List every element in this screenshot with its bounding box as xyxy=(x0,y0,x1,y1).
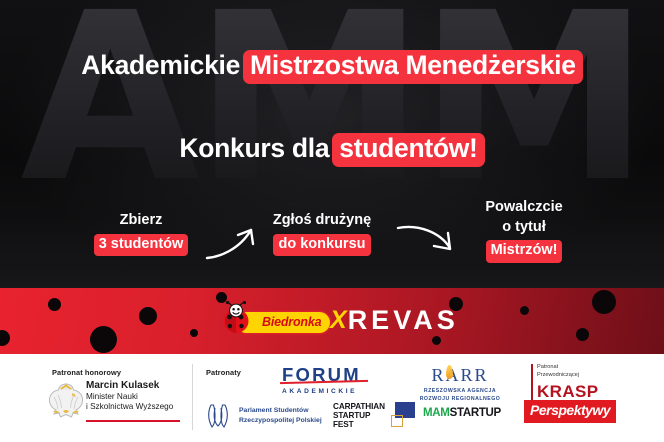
mamstartup-logo: MAMSTARTUP xyxy=(423,407,501,419)
rarr-flame-icon xyxy=(446,365,453,379)
step-3-win: Powalczcie o tytuł Mistrzów! xyxy=(448,198,600,263)
step-1-collect: Zbierz 3 studentów xyxy=(76,211,206,256)
step-3-label-a: Powalczcie xyxy=(448,198,600,218)
ladybug-icon xyxy=(222,301,252,335)
band-dot xyxy=(592,290,616,314)
parlament-studentow-logo: Parlament Studentów Rzeczypospolitej Pol… xyxy=(204,402,322,430)
perspektywy-logo: Perspektywy xyxy=(524,400,616,423)
krasp-logo: Patronat Przewodniczącej KRASP xyxy=(537,363,599,402)
band-dot xyxy=(0,330,10,346)
minister-name: Marcin Kulasek xyxy=(86,380,173,392)
band-dot xyxy=(90,326,117,353)
revas-wordmark: REVAS xyxy=(348,305,459,336)
step-2-label: Zgłoś drużynę xyxy=(252,211,392,231)
band-dot xyxy=(520,306,529,315)
band-dot xyxy=(190,329,198,337)
band-dot xyxy=(576,328,589,341)
subheadline-highlight-text: studentów! xyxy=(332,133,484,167)
step-2-register: Zgłoś drużynę do konkursu xyxy=(252,211,392,256)
parlament-line-1: Parlament Studentów xyxy=(239,406,322,416)
perspektywy-wordmark: Perspektywy xyxy=(530,402,610,418)
minister-title-line-2: i Szkolnictwa Wyższego xyxy=(86,402,173,412)
sponsors-divider xyxy=(192,364,193,430)
carpathian-line-2: STARTUP xyxy=(333,411,385,420)
step-2-tag: do konkursu xyxy=(273,234,370,257)
carpathian-square-gold xyxy=(391,415,403,427)
sponsors-strip: Patronat honorowy Patronaty Marcin Kulas… xyxy=(0,354,664,442)
parlament-line-2: Rzeczypospolitej Polskiej xyxy=(239,416,322,426)
step-3-tag: Mistrzów! xyxy=(486,240,563,263)
subheadline-plain-text: Konkurs dla xyxy=(179,133,329,163)
minister-red-rule xyxy=(86,420,180,422)
rarr-subtitle-line-2: ROZWOJU REGIONALNEGO xyxy=(412,396,508,404)
arrow-step1-to-step2-icon xyxy=(205,222,261,264)
forum-subtitle: AKADEMICKIE xyxy=(282,388,361,395)
steps-row: Zbierz 3 studentów Zgłoś drużynę do konk… xyxy=(0,198,664,280)
krasp-pre-line-1: Patronat xyxy=(537,363,599,371)
eagle-icon xyxy=(46,381,86,423)
rarr-wordmark: RARR xyxy=(412,366,508,384)
step-1-tag: 3 studentów xyxy=(94,234,189,257)
carpathian-text: CARPATHIAN STARTUP FEST xyxy=(333,402,385,430)
krasp-wordmark: KRASP xyxy=(537,382,599,402)
rarr-subtitle-line-1: RZESZOWSKA AGENCJA xyxy=(412,388,508,396)
arrow-step2-to-step3-icon xyxy=(396,218,462,262)
carpathian-startup-fest-logo: CARPATHIAN STARTUP FEST xyxy=(333,402,415,430)
parlament-emblem-icon xyxy=(204,402,232,430)
parlament-text: Parlament Studentów Rzeczypospolitej Pol… xyxy=(239,406,322,426)
biedronka-logo: Biedronka xyxy=(236,308,330,336)
hero-section: AMM AkademickieMistrzostwa Menedżerskie … xyxy=(0,0,664,288)
step-1-label: Zbierz xyxy=(76,211,206,231)
rarr-logo: RARR RZESZOWSKA AGENCJA ROZWOJU REGIONAL… xyxy=(412,366,508,404)
polish-eagle-emblem xyxy=(46,381,86,428)
mamstartup-startup: STARTUP xyxy=(450,407,501,419)
headline-line-2: Konkurs dlastudentów! xyxy=(0,133,664,167)
mamstartup-mam: MAM xyxy=(423,407,450,419)
carpathian-mark-icon xyxy=(391,402,415,426)
promo-poster: AMM AkademickieMistrzostwa Menedżerskie … xyxy=(0,0,664,442)
minister-title-line-1: Minister Nauki xyxy=(86,392,173,402)
biedronka-pill: Biedronka xyxy=(236,312,330,333)
minister-block: Marcin Kulasek Minister Nauki i Szkolnic… xyxy=(86,380,173,412)
band-dot xyxy=(139,307,157,325)
carpathian-line-1: CARPATHIAN xyxy=(333,402,385,411)
x-separator: X xyxy=(330,306,347,335)
revas-logo: X REVAS xyxy=(330,305,459,336)
headline-line-1: AkademickieMistrzostwa Menedżerskie xyxy=(0,50,664,84)
headline-highlight-text: Mistrzostwa Menedżerskie xyxy=(243,50,583,84)
band-dot xyxy=(48,298,61,311)
biedronka-wordmark: Biedronka xyxy=(262,315,321,329)
band-dot xyxy=(432,336,441,345)
carpathian-line-3: FEST xyxy=(333,420,385,429)
headline-plain-text: Akademickie xyxy=(81,50,240,80)
honorary-patronage-label: Patronat honorowy xyxy=(52,368,121,377)
patrons-label: Patronaty xyxy=(206,368,241,377)
step-3-label-b: o tytuł xyxy=(448,218,600,238)
krasp-rule xyxy=(531,364,533,402)
forum-akademickie-logo: FORUM AKADEMICKIE xyxy=(282,366,361,395)
amm-watermark-text: AMM xyxy=(20,0,643,214)
krasp-pre-line-2: Przewodniczącej xyxy=(537,371,599,379)
